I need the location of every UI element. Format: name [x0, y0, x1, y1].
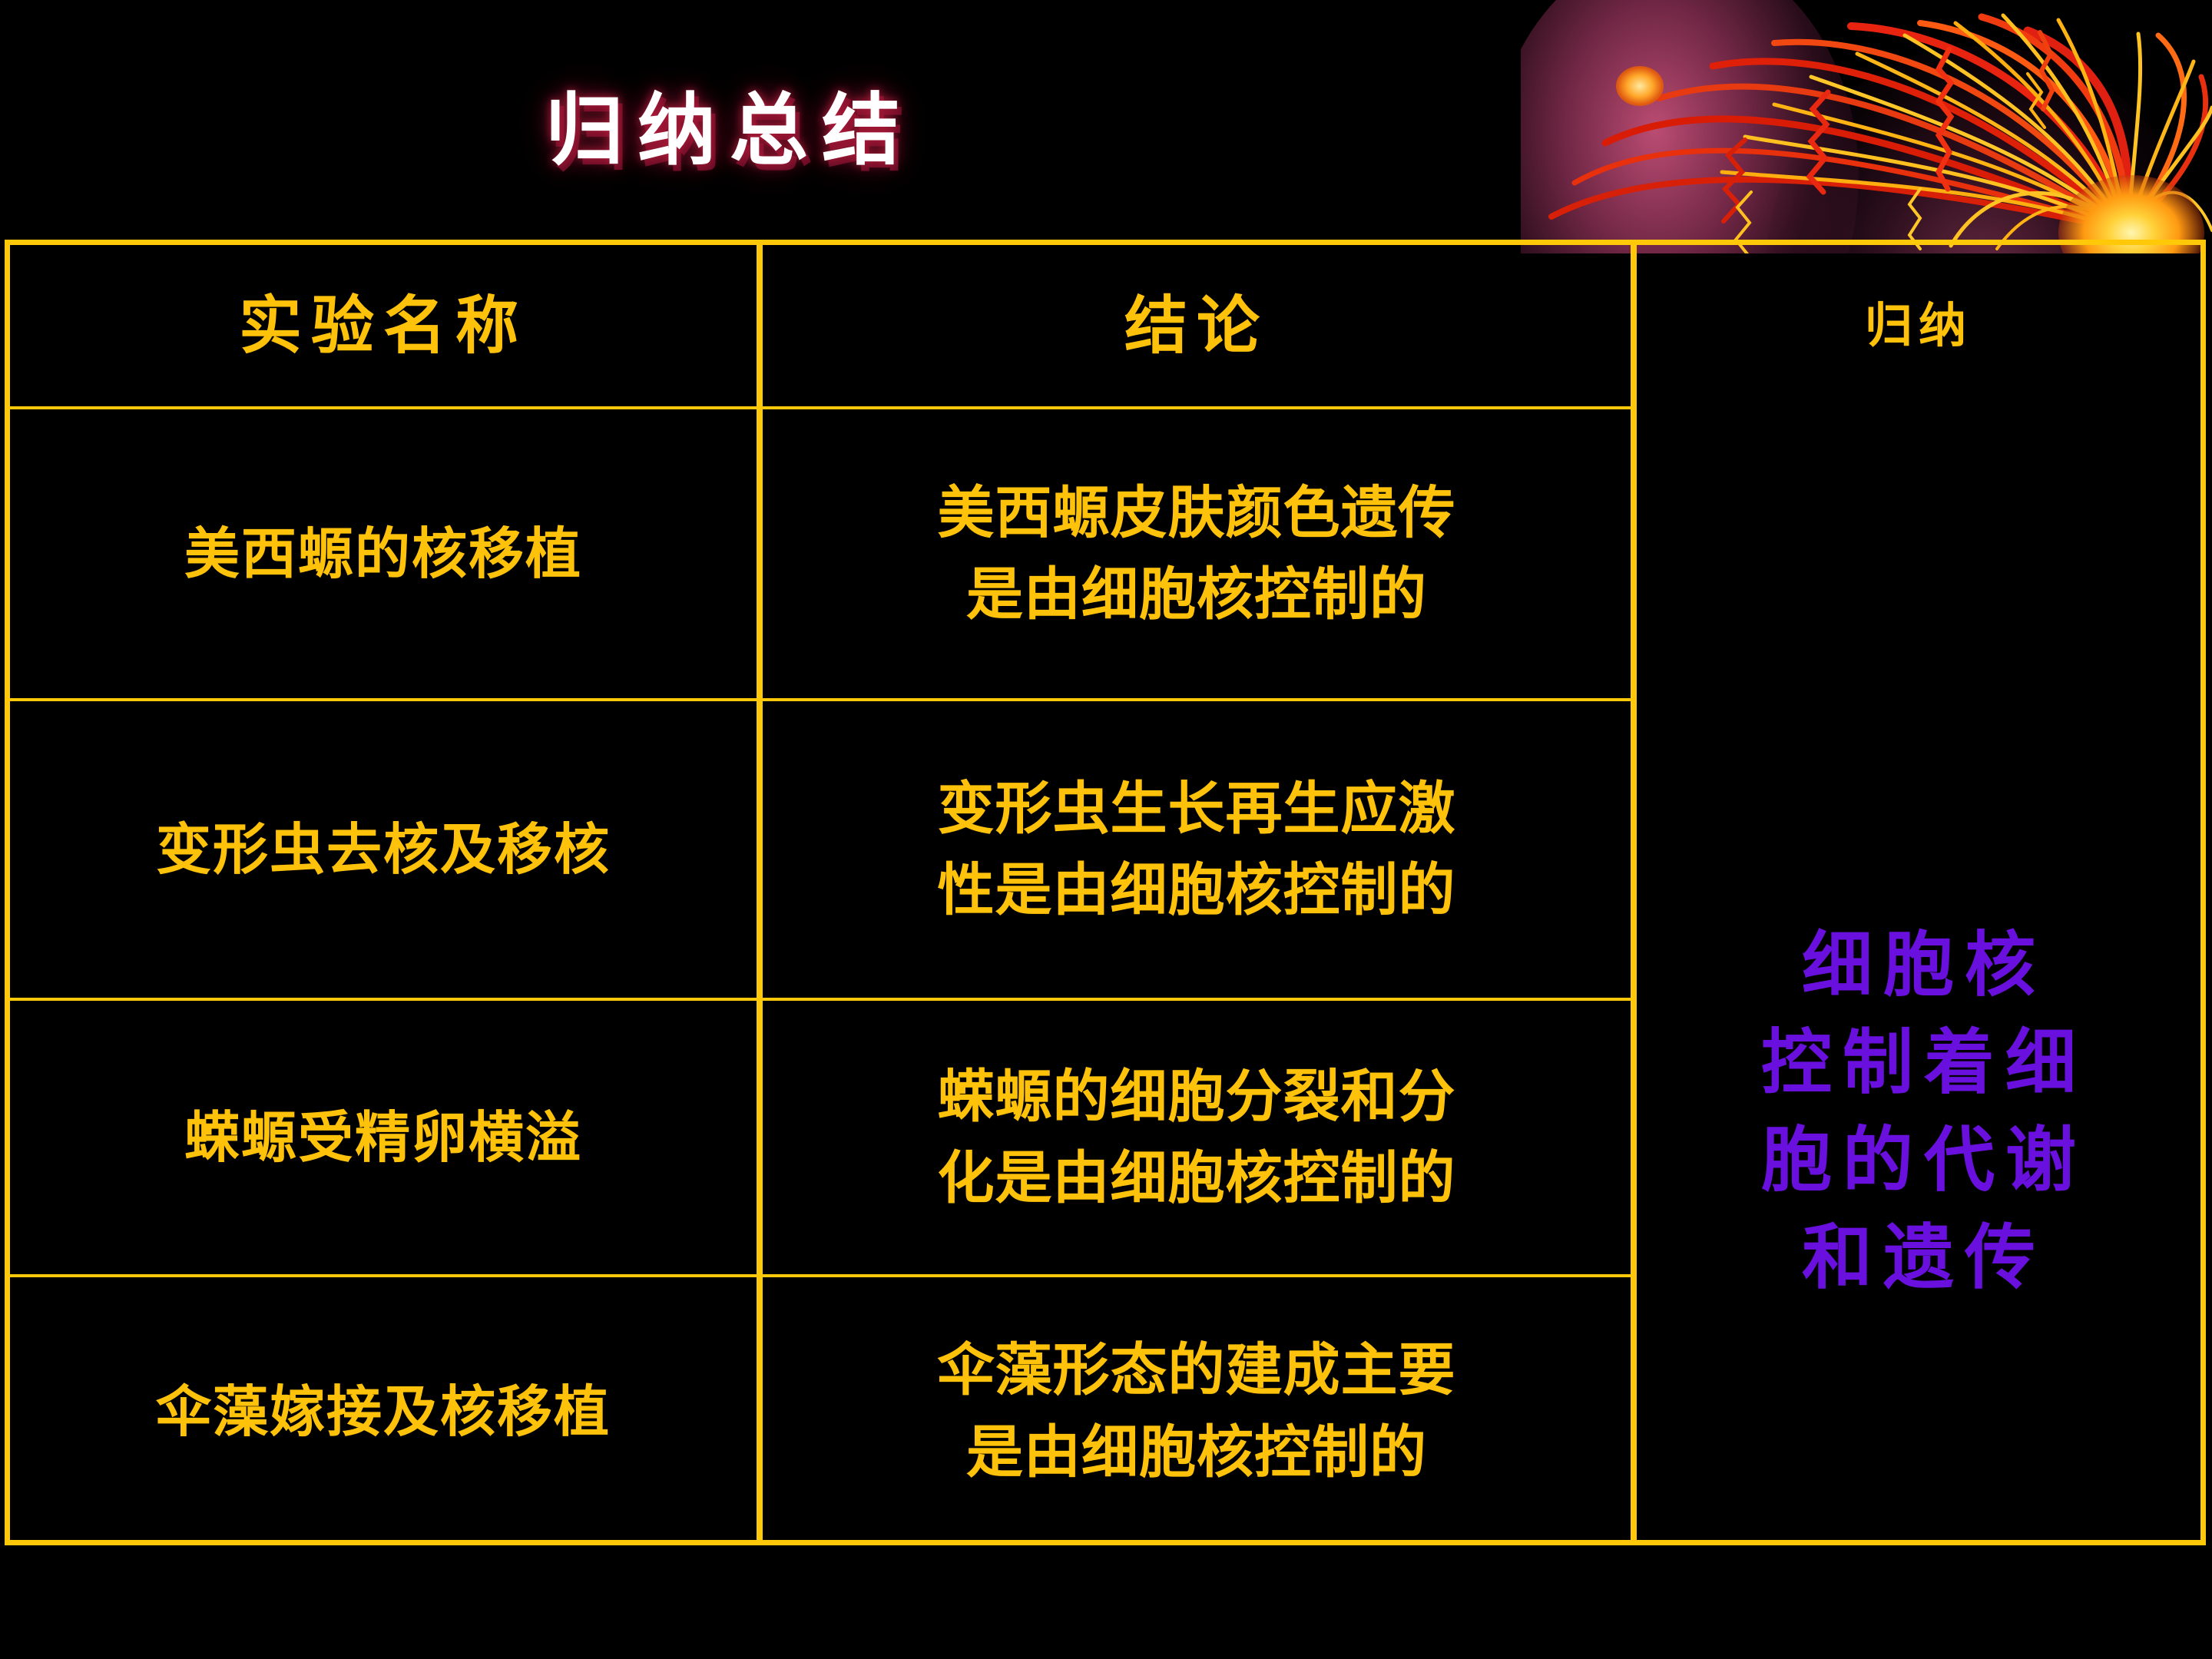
table-row: 伞藻嫁接及核移植 — [10, 1274, 757, 1545]
table-row: 变形虫生长再生应激 性是由细胞核控制的 — [763, 698, 1631, 998]
table-row: 美西螈的核移植 — [10, 406, 757, 698]
conclusion-line: 是由细胞核控制的 — [938, 1416, 1456, 1489]
summary-line: 控制着细 — [1750, 1024, 2087, 1101]
summary-line: 和遗传 — [1791, 1219, 2046, 1296]
table-row: 伞藻形态的建成主要 是由细胞核控制的 — [763, 1274, 1631, 1545]
column-conclusions: 结论 美西螈皮肤颜色遗传 是由细胞核控制的 变形虫生长再生应激 性是由细胞核控制… — [763, 245, 1637, 1540]
page-title: 归纳总结 — [0, 68, 1459, 180]
conclusion-line: 蝾螈的细胞分裂和分 — [938, 1060, 1456, 1134]
table-header-summary: 归纳 — [1637, 245, 2200, 406]
table-row: 蝾螈受精卵横溢 — [10, 998, 757, 1274]
summary-table: 实验名称 美西螈的核移植 变形虫去核及移核 蝾螈受精卵横溢 伞藻嫁接及核移植 结… — [5, 240, 2206, 1545]
column-summary: 归纳 细胞核 控制着细 胞的代谢 和遗传 — [1637, 245, 2200, 1540]
table-row: 变形虫去核及移核 — [10, 698, 757, 998]
table-header-experiment-name: 实验名称 — [10, 245, 757, 406]
table-header-conclusion: 结论 — [763, 245, 1631, 406]
summary-text: 细胞核 控制着细 胞的代谢 和遗传 — [1637, 406, 2200, 1659]
summary-line: 胞的代谢 — [1750, 1121, 2087, 1199]
column-experiment-names: 实验名称 美西螈的核移植 变形虫去核及移核 蝾螈受精卵横溢 伞藻嫁接及核移植 — [10, 245, 763, 1540]
table-row: 蝾螈的细胞分裂和分 化是由细胞核控制的 — [763, 998, 1631, 1274]
conclusion-line: 化是由细胞核控制的 — [938, 1141, 1456, 1215]
table-row: 美西螈皮肤颜色遗传 是由细胞核控制的 — [763, 406, 1631, 698]
firework-burst-icon — [1521, 0, 2212, 253]
conclusion-line: 性是由细胞核控制的 — [938, 853, 1456, 927]
conclusion-line: 是由细胞核控制的 — [938, 558, 1456, 631]
summary-line: 细胞核 — [1791, 926, 2046, 1004]
conclusion-line: 伞藻形态的建成主要 — [938, 1333, 1456, 1407]
conclusion-line: 变形虫生长再生应激 — [938, 772, 1456, 846]
slide-root: 归纳总结 实验名称 美西螈的核移植 变形虫去核及移核 蝾螈受精卵横溢 伞藻嫁接及… — [0, 0, 2212, 1659]
conclusion-line: 美西螈皮肤颜色遗传 — [938, 476, 1456, 550]
